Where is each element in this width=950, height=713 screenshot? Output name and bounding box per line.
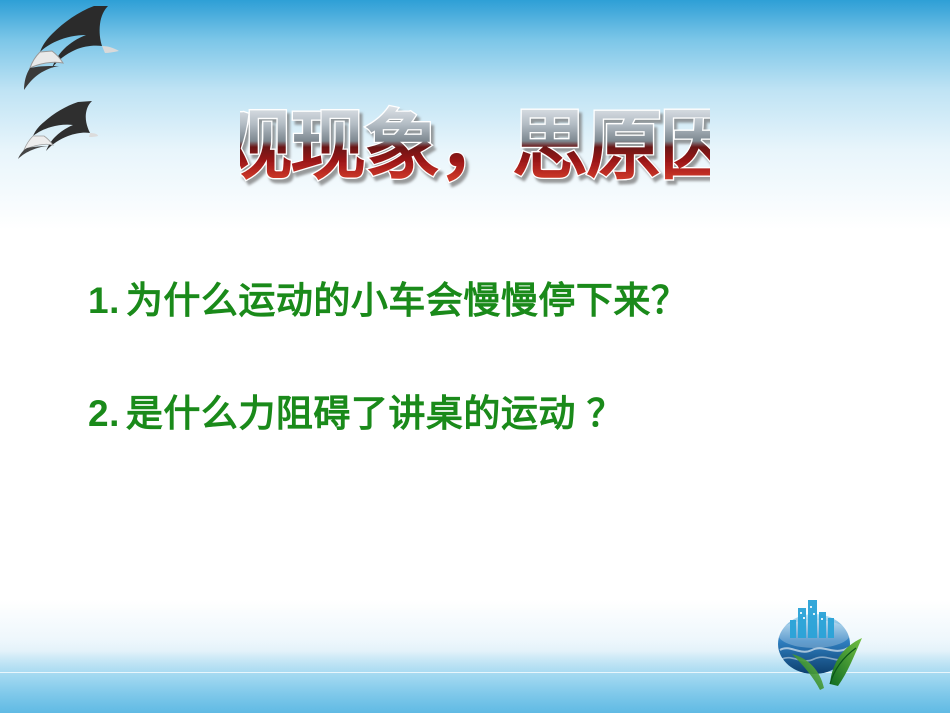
seagull-large-icon: [16, 4, 126, 104]
question-number: 1.: [88, 280, 120, 323]
question-text: 为什么运动的小车会慢慢停下来？: [126, 280, 689, 321]
list-item: 1.为什么运动的小车会慢慢停下来？: [88, 280, 908, 323]
title-wordart: 观现象，思原因: [240, 101, 710, 190]
list-item: 2.是什么力阻碍了讲桌的运动 ？: [88, 393, 908, 436]
question-text: 是什么力阻碍了讲桌的运动 ？: [126, 393, 624, 434]
slide-canvas: 观现象，思原因 1.为什么运动的小车会慢慢停下来？ 2.是什么力阻碍了讲桌的运动…: [0, 0, 950, 713]
question-number: 2.: [88, 393, 120, 436]
question-list: 1.为什么运动的小车会慢慢停下来？ 2.是什么力阻碍了讲桌的运动 ？: [88, 280, 908, 435]
eco-city-logo-icon: [762, 588, 872, 693]
page-title: 观现象，思原因: [0, 92, 950, 202]
